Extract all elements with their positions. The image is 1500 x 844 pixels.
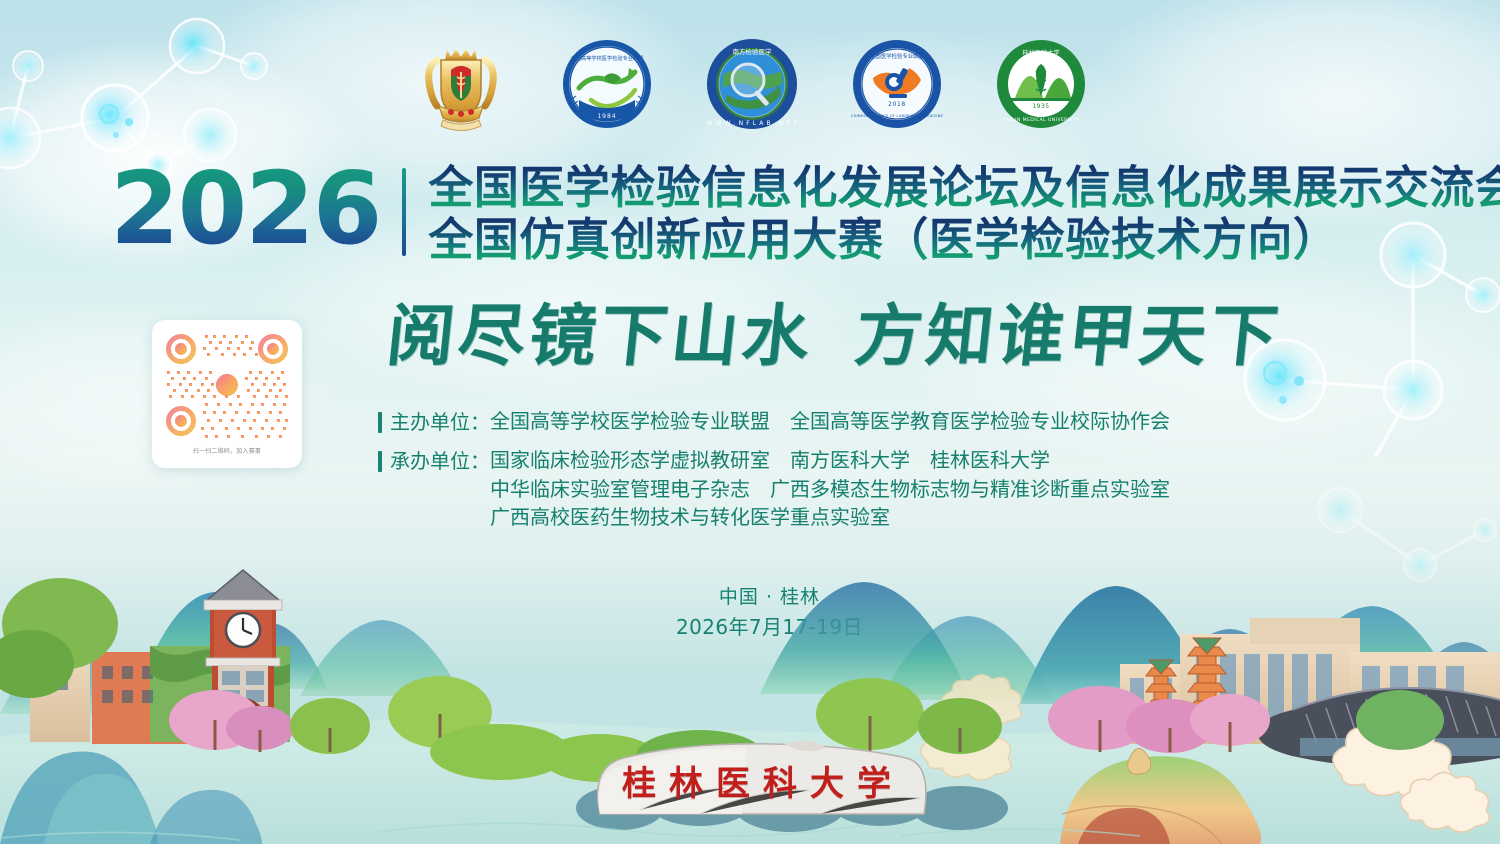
svg-text:1984: 1984 bbox=[597, 113, 616, 120]
organizer-bar-marker bbox=[378, 412, 382, 433]
page-title-line-1: 全国医学检验信息化发展论坛及信息化成果展示交流会 bbox=[428, 162, 1500, 214]
laboratory-alliance-icon: 全国医学检验专业联盟 2018 CHINESE ALLIANCE OF LABO… bbox=[851, 38, 943, 130]
svg-text:南方检验医学: 南方检验医学 bbox=[733, 47, 773, 56]
organizer-group-host: 主办单位： 全国高等学校医学检验专业联盟 全国高等医学教育医学检验专业校际协作会 bbox=[378, 408, 1278, 436]
svg-text:2018: 2018 bbox=[888, 101, 906, 108]
logo-blue-circle-alliance: 全国高等学校医学检验专业联盟 1984 bbox=[561, 38, 653, 135]
headline-block: 2026 全国医学检验信息化发展论坛及信息化成果展示交流会 全国仿真创新应用大赛… bbox=[110, 160, 1500, 266]
headline-divider bbox=[402, 168, 406, 256]
slogan-part-2: 方知谁甲天下 bbox=[851, 296, 1285, 375]
logo-laboratory-alliance: 全国医学检验专业联盟 2018 CHINESE ALLIANCE OF LABO… bbox=[851, 38, 943, 135]
svg-text:全国高等学校医学检验专业联盟: 全国高等学校医学检验专业联盟 bbox=[571, 54, 644, 62]
logo-guilin-medical-university: 桂林医科大学 1935 GUILIN MEDICAL UNIVERSITY bbox=[995, 38, 1087, 135]
logo-row: 全国高等学校医学检验专业联盟 1984 bbox=[0, 36, 1500, 137]
year-2026-logo: 2026 bbox=[110, 160, 398, 258]
svg-text:CHINESE ALLIANCE OF LABORATORY: CHINESE ALLIANCE OF LABORATORY MEDICINE bbox=[851, 114, 943, 118]
organizer-label: 主办单位： bbox=[390, 408, 490, 436]
poster-canvas: 全国高等学校医学检验专业联盟 1984 bbox=[0, 0, 1500, 844]
nflab-globe-icon: 南方检验医学 W W W . N F L A B . N E T bbox=[705, 37, 799, 131]
svg-text:1935: 1935 bbox=[1032, 103, 1049, 110]
qr-caption: 扫一扫二维码，加入赛事 bbox=[193, 446, 261, 455]
blue-circle-alliance-icon: 全国高等学校医学检验专业联盟 1984 bbox=[561, 38, 653, 130]
slogan: 阅尽镜下山水方知谁甲天下 bbox=[383, 282, 1287, 379]
qr-code-card[interactable]: 扫一扫二维码，加入赛事 bbox=[152, 320, 302, 468]
slogan-part-1: 阅尽镜下山水 bbox=[383, 296, 817, 375]
organizer-line: 国家临床检验形态学虚拟教研室 南方医科大学 桂林医科大学 bbox=[490, 447, 1170, 475]
organizer-bar-marker bbox=[378, 451, 382, 472]
organizer-label: 承办单位： bbox=[390, 447, 490, 475]
guilin-medical-university-icon: 桂林医科大学 1935 GUILIN MEDICAL UNIVERSITY bbox=[995, 38, 1087, 130]
svg-text:全国医学检验专业联盟: 全国医学检验专业联盟 bbox=[870, 52, 925, 60]
title-block: 全国医学检验信息化发展论坛及信息化成果展示交流会 全国仿真创新应用大赛（医学检验… bbox=[428, 160, 1500, 266]
stone-monument-text: 桂林医科大学 bbox=[622, 756, 904, 805]
shield-emblem-icon bbox=[413, 36, 509, 132]
page-title-line-2: 全国仿真创新应用大赛（医学检验技术方向） bbox=[428, 214, 1500, 266]
svg-text:GUILIN MEDICAL UNIVERSITY: GUILIN MEDICAL UNIVERSITY bbox=[1003, 117, 1080, 123]
svg-text:桂林医科大学: 桂林医科大学 bbox=[1022, 49, 1059, 57]
logo-shield-emblem bbox=[413, 36, 509, 137]
svg-text:W W W . N F L A B . N E T: W W W . N F L A B . N E T bbox=[707, 120, 798, 127]
organizer-line: 中华临床实验室管理电子杂志 广西多模态生物标志物与精准诊断重点实验室 bbox=[490, 476, 1170, 504]
organizer-line: 全国高等学校医学检验专业联盟 全国高等医学教育医学检验专业校际协作会 bbox=[490, 408, 1170, 436]
logo-nflab-globe: 南方检验医学 W W W . N F L A B . N E T bbox=[705, 37, 799, 136]
qr-code-icon[interactable] bbox=[161, 329, 293, 443]
organizer-values: 全国高等学校医学检验专业联盟 全国高等医学教育医学检验专业校际协作会 bbox=[490, 408, 1170, 436]
